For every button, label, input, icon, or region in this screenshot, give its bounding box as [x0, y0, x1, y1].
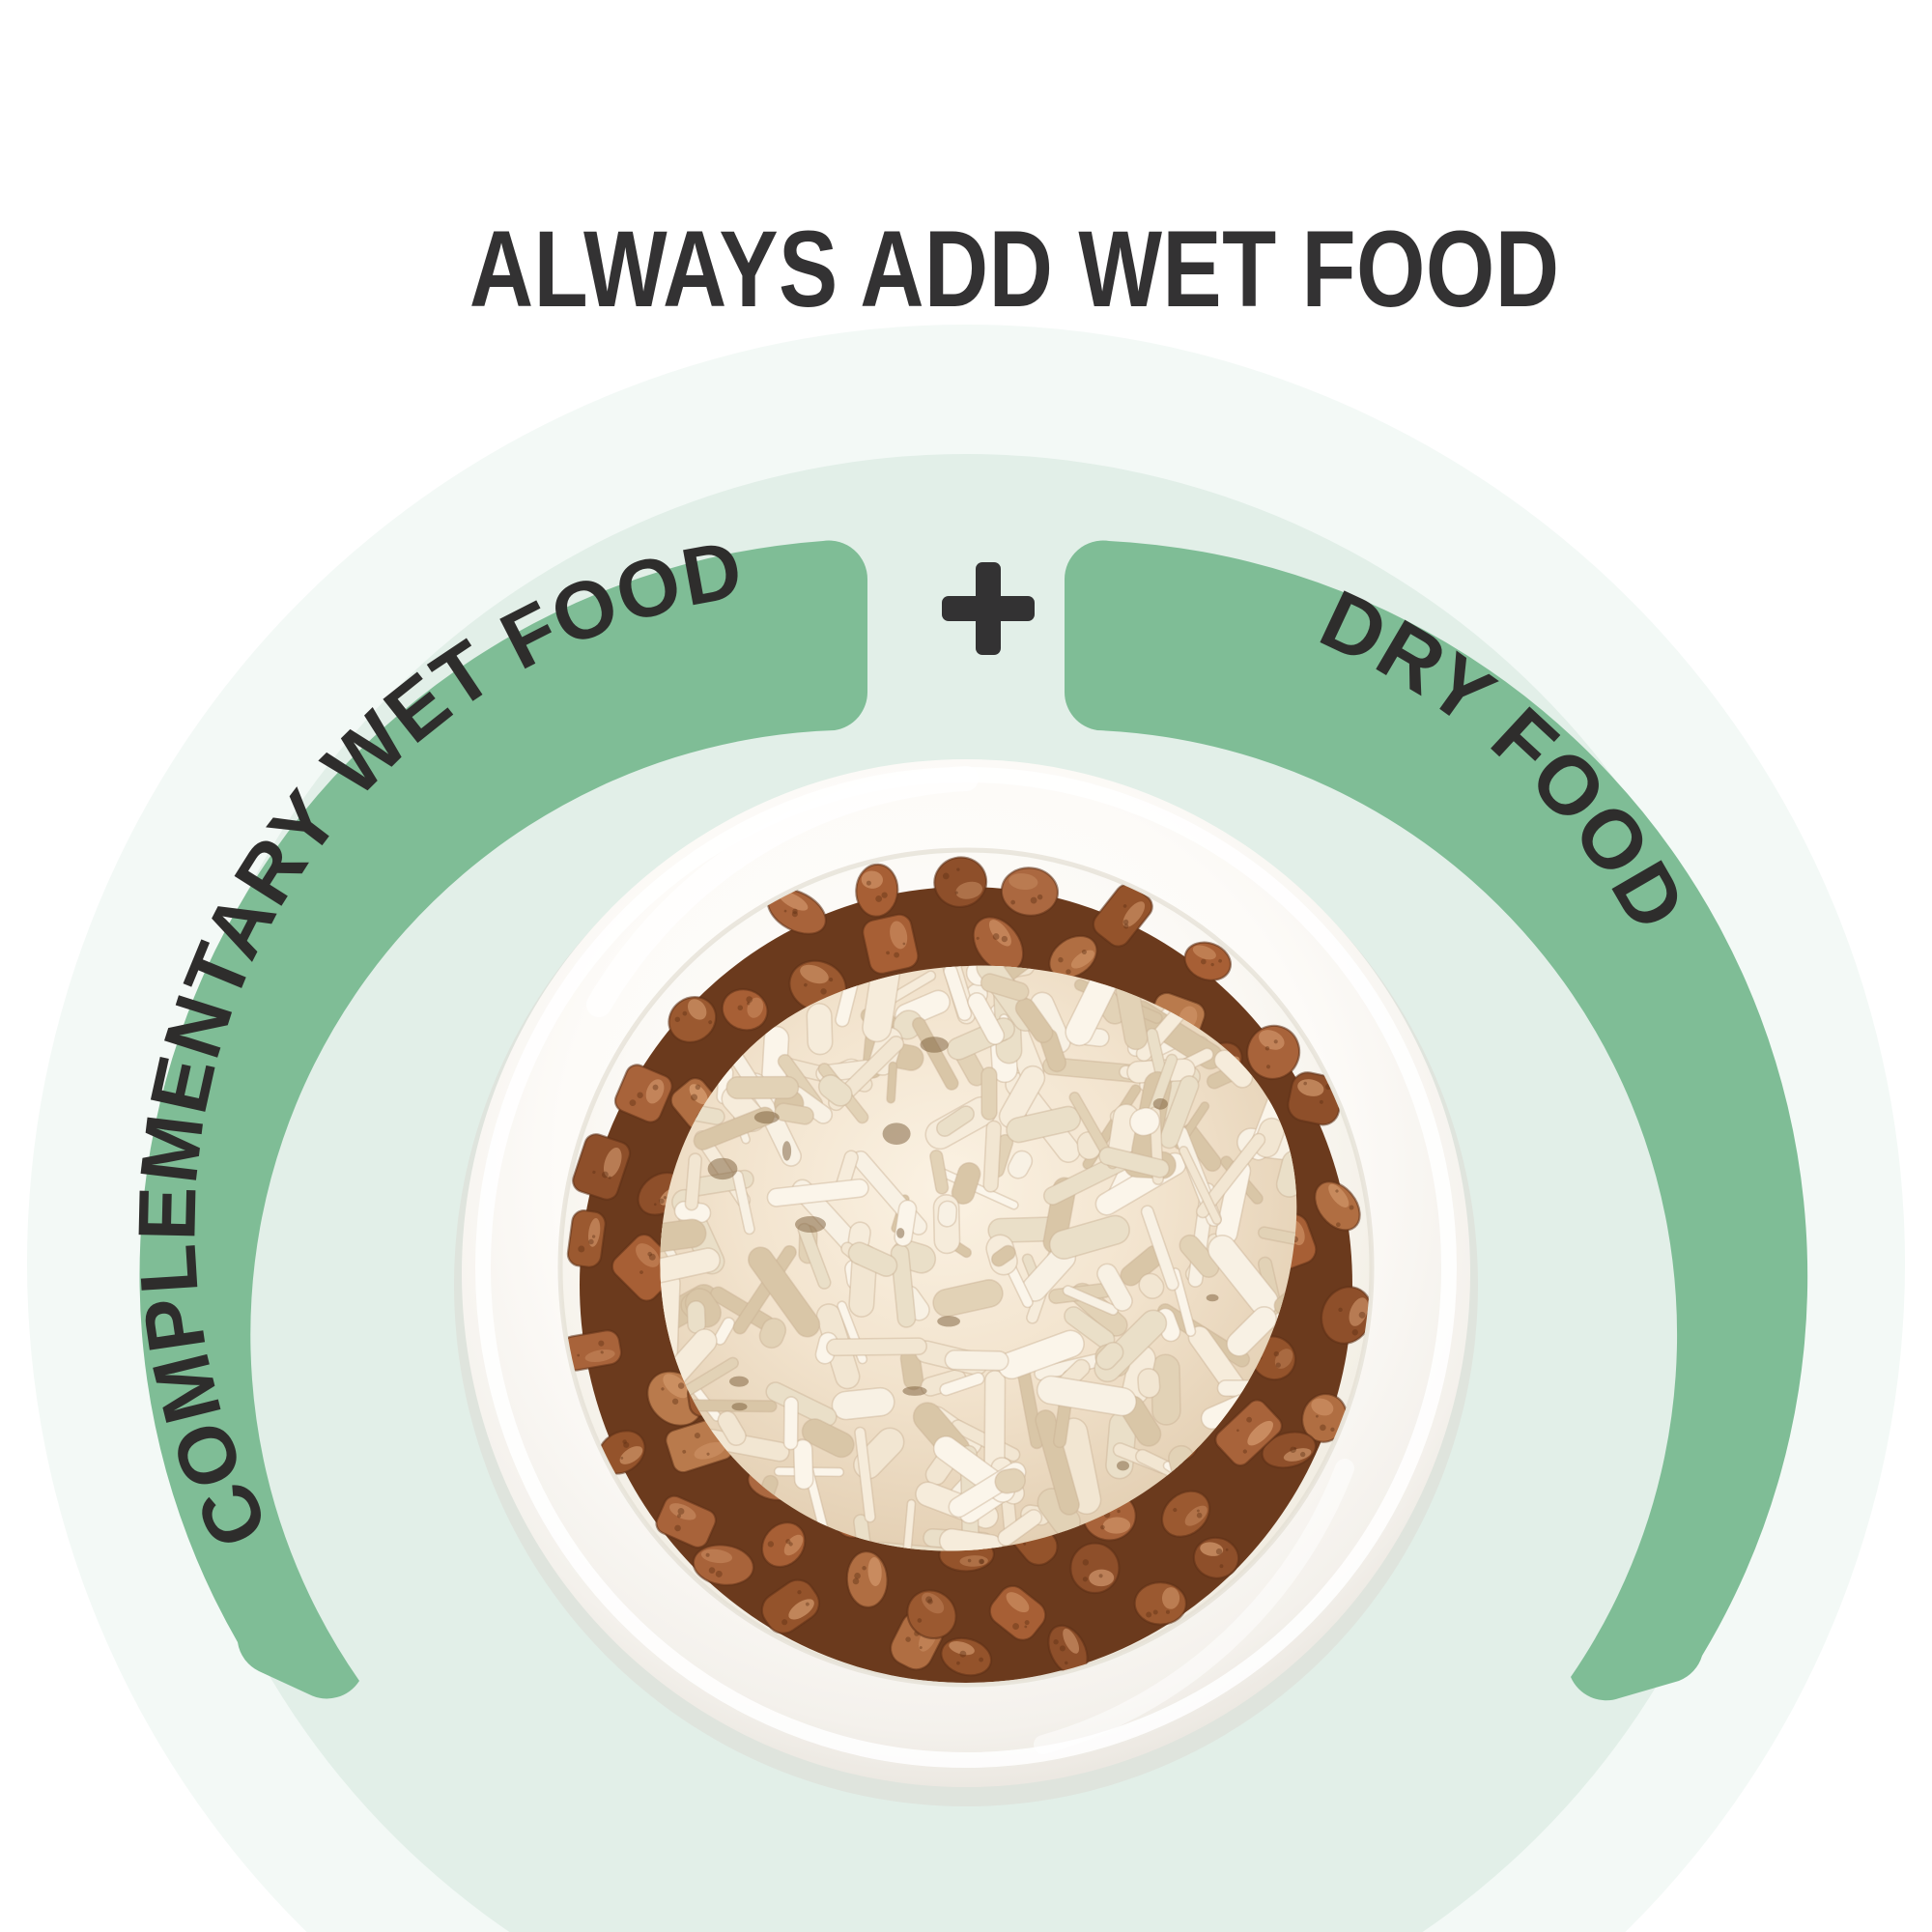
chicken-gap	[902, 1386, 926, 1396]
chicken-gap	[708, 1158, 738, 1179]
chicken-gap	[921, 1037, 949, 1052]
kibble-piece	[861, 912, 921, 976]
chicken-gap	[782, 1141, 791, 1160]
chicken-gap	[1153, 1098, 1168, 1110]
chicken-gap	[795, 1216, 826, 1233]
chicken-shred	[783, 1397, 798, 1450]
bowl-photo	[454, 759, 1478, 1806]
kibble-piece	[1134, 1582, 1186, 1625]
chicken-gap	[1117, 1461, 1129, 1470]
chicken-shred	[983, 1121, 1002, 1192]
chicken-shred	[827, 1338, 927, 1355]
feeding-diagram: COMPLEMENTARY WET FOOD DRY FOOD	[0, 0, 1932, 1932]
kibble-piece	[1070, 1543, 1120, 1594]
chicken-shred	[945, 1350, 1009, 1371]
plus-icon	[942, 562, 1035, 655]
chicken-shred	[726, 1076, 798, 1098]
chicken-gap	[732, 1403, 748, 1410]
chicken-gap	[937, 1316, 960, 1326]
chicken-shred	[807, 1003, 833, 1054]
chicken-shred	[981, 1067, 997, 1120]
infographic-canvas: ALWAYS ADD WET FOOD TO THE KIBBLE!	[0, 0, 1932, 1932]
kibble-piece	[566, 1209, 607, 1269]
chicken-shred	[1137, 1368, 1160, 1399]
chicken-gap	[1207, 1294, 1219, 1302]
chicken-gap	[729, 1377, 749, 1387]
chicken-shred	[937, 1201, 957, 1228]
chicken-gap	[883, 1122, 911, 1145]
chicken-gap	[896, 1228, 904, 1238]
chicken-shred	[887, 1062, 897, 1103]
chicken-gap	[754, 1111, 780, 1123]
